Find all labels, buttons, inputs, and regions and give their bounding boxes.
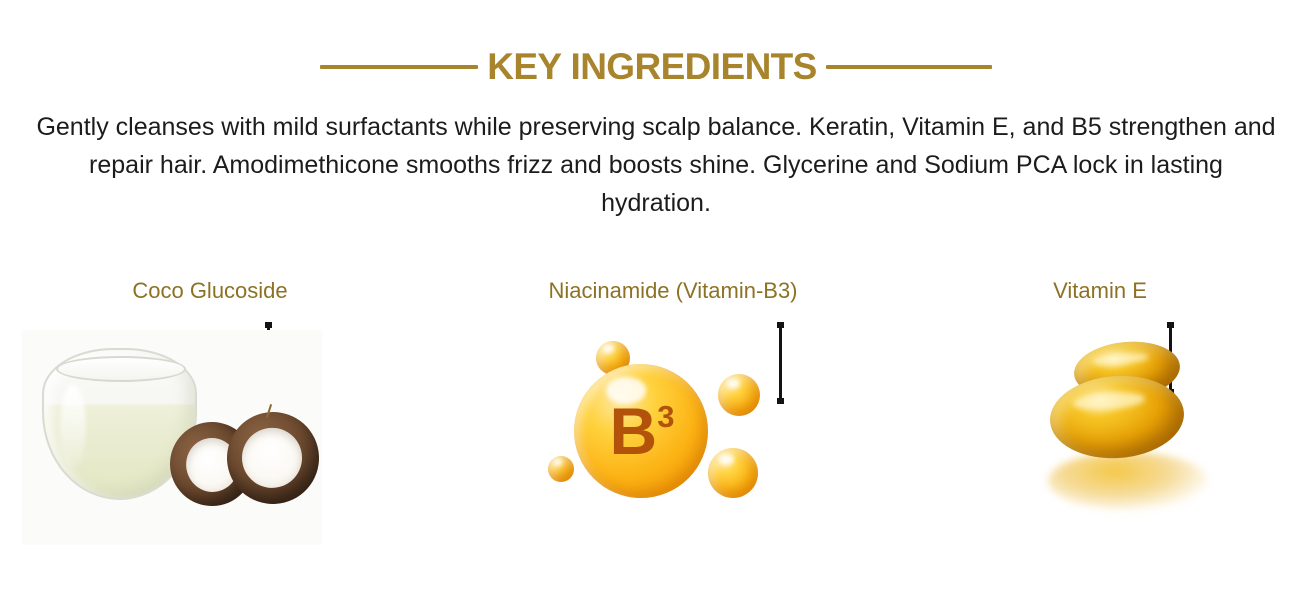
section-header: KEY INGREDIENTS (0, 48, 1312, 85)
bubble-icon (708, 448, 758, 498)
page-title: KEY INGREDIENTS (487, 48, 817, 85)
ingredient-columns: Coco Glucoside Niacinamide (Vitamin-B3) (0, 278, 1312, 578)
glass-highlight (60, 384, 86, 468)
glass-rim (56, 356, 186, 382)
vitamin-b3-symbol: B3 (574, 364, 708, 498)
coco-glucoside-image (22, 330, 322, 545)
header-rule-left (320, 65, 478, 69)
ingredient-label: Coco Glucoside (0, 278, 420, 304)
bubble-icon (548, 456, 574, 482)
coconut-flesh (238, 424, 306, 492)
key-ingredients-infographic: KEY INGREDIENTS Gently cleanses with mil… (0, 0, 1312, 600)
ingredient-label: Niacinamide (Vitamin-B3) (463, 278, 883, 304)
intro-paragraph: Gently cleanses with mild surfactants wh… (36, 108, 1276, 222)
capsule-reflection (1048, 452, 1208, 510)
vitamin-b3-letter: B (610, 398, 657, 464)
vitamin-e-capsules-image (1038, 340, 1248, 540)
niacinamide-droplet-image: B3 (548, 336, 808, 536)
bubble-icon (718, 374, 760, 416)
ingredient-label: Vitamin E (890, 278, 1310, 304)
header-rule-right (826, 65, 992, 69)
